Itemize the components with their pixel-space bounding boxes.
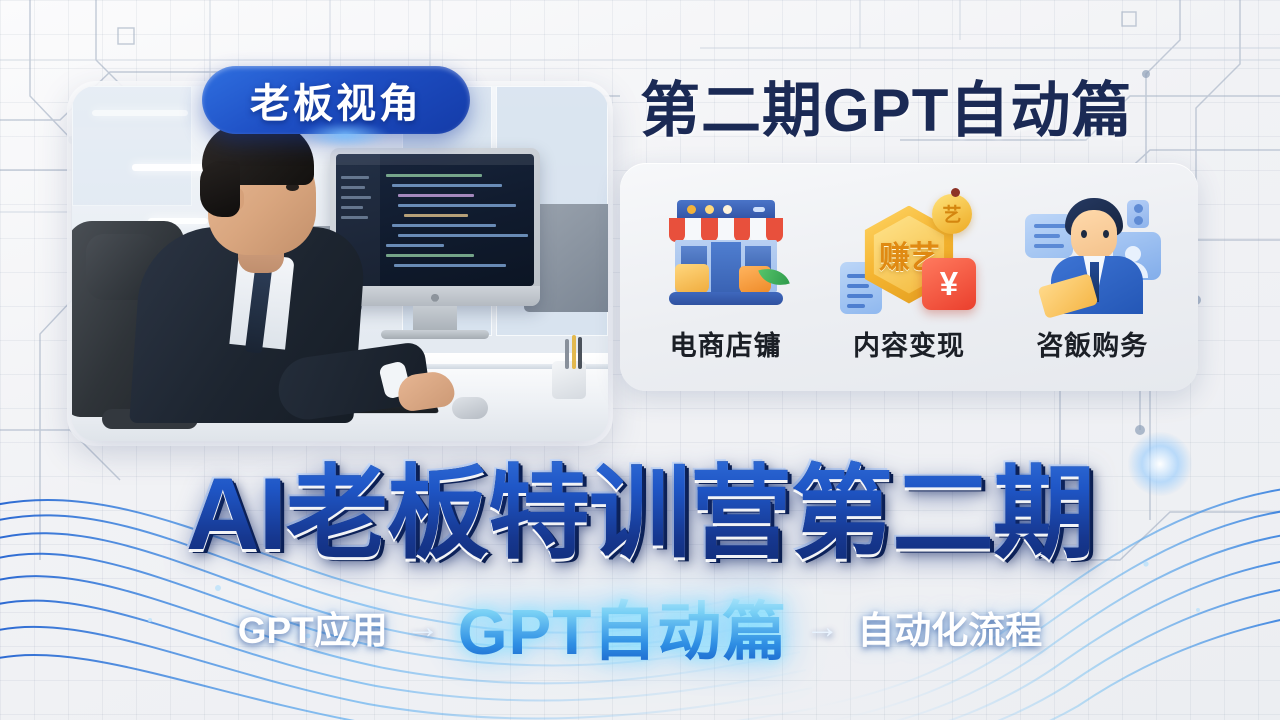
businessman-figure: [130, 123, 370, 423]
poster-canvas: 老板视角 第二期GPT自动篇: [0, 0, 1280, 720]
page-headline: 第二期GPT自动篇: [640, 62, 1160, 138]
badge-glow-decor: [300, 122, 390, 148]
mouse: [452, 397, 488, 419]
yuan-price-tag: ¥: [922, 258, 976, 310]
feature-card-monetization[interactable]: 赚艺 艺 ¥ 内容变现: [824, 192, 994, 363]
imac-stand: [413, 306, 457, 332]
money-hexagon-icon: 赚艺 艺 ¥: [844, 192, 974, 318]
arrow-right-icon: →: [406, 608, 440, 647]
feature-label-consulting: 咨飯购务: [1036, 324, 1148, 363]
feature-label-ecommerce: 电商店镛: [670, 324, 782, 363]
imac-foot: [381, 330, 489, 339]
feature-panel: 电商店镛 赚艺 艺 ¥ 内容变现: [620, 163, 1198, 391]
bottom-tagline-bar: GPT应用 → GPT自动篇 → 自动化流程: [0, 588, 1280, 666]
storefront-icon: [661, 192, 791, 318]
hair-side: [200, 161, 240, 217]
arrow-right-icon: →: [805, 608, 839, 647]
feature-card-consulting[interactable]: 咨飯购务: [1007, 192, 1177, 363]
apple-logo-icon: [430, 291, 440, 302]
consultant-icon: [1027, 192, 1157, 318]
title-sparkle-icon: [1128, 432, 1192, 496]
ceiling-light: [92, 110, 188, 116]
feature-card-ecommerce[interactable]: 电商店镛: [641, 192, 811, 363]
tagline-center: GPT自动篇: [458, 581, 788, 673]
tagline-right: 自动化流程: [857, 600, 1042, 654]
tagline-left: GPT应用: [238, 600, 388, 654]
boss-view-badge-label: 老板视角: [250, 71, 422, 129]
feature-label-monetization: 内容变现: [853, 324, 965, 363]
coin-icon: 艺: [932, 194, 972, 234]
main-title: AI老板特训营第二期: [0, 432, 1280, 579]
